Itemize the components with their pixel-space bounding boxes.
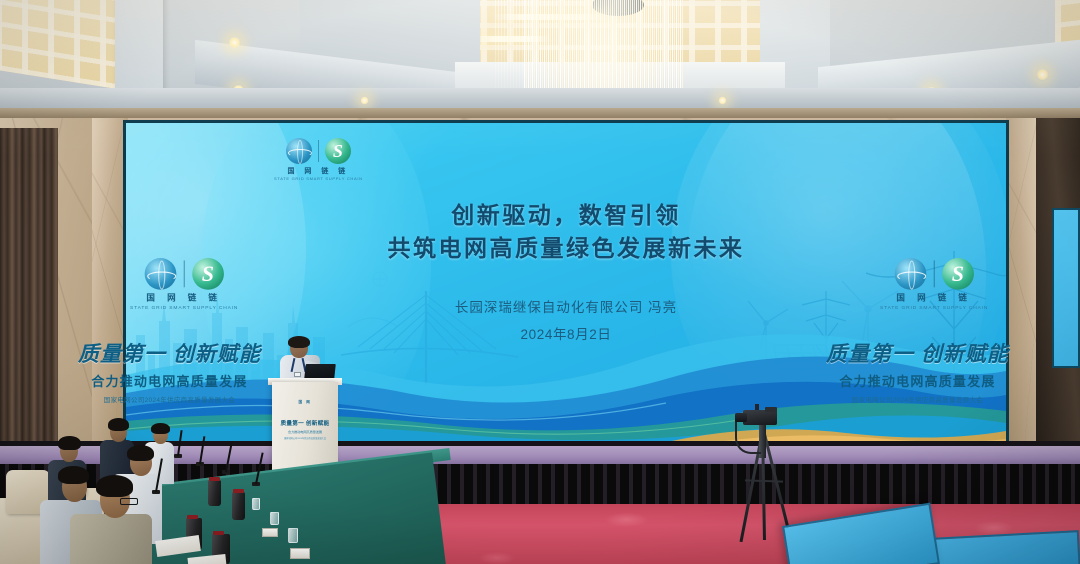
speaker-badge [294,372,301,377]
thermos-cap [213,531,224,535]
downlight-icon [360,96,369,105]
state-grid-globe-icon [894,258,926,290]
logo-cn-text: 国 网 链 链 [287,166,349,176]
person-hair [127,445,154,461]
thermos-cap [187,515,198,519]
logo-divider [934,260,935,287]
podium-front-panel: 国 网 质量第一 创新赋能 合力推动电网高质量发展 国家电网公司2024年供应商… [275,400,335,440]
logo-en-text: STATE GRID SMART SUPPLY CHAIN [274,176,363,181]
wall-top-trim [0,108,1080,118]
water-glass [252,498,260,510]
logo-cn-text: 国 网 链 链 [146,292,221,304]
thermos-flask [232,492,245,520]
downlight-icon [718,96,727,105]
smart-supply-chain-s-icon [325,138,351,164]
thermos-flask [208,480,221,506]
nameplate [290,548,310,559]
screen-top-logo-block: 国 网 链 链 STATE GRID SMART SUPPLY CHAIN [274,138,363,181]
laptop-screen [304,364,336,379]
speaker-hair [288,336,310,348]
person-hair [108,418,129,431]
slogan-sub: 合力推动电网高质量发展 [78,371,261,390]
downlight-icon [1036,68,1049,81]
secondary-display [1052,208,1080,368]
right-pillar [1006,108,1036,448]
ceiling [0,0,1080,112]
slogan-fine: 国家电网公司2024年供应商高质量发展大会 [78,394,261,404]
right-banner-logo-block: 国 网 链 链 STATE GRID SMART SUPPLY CHAIN [880,258,988,310]
podium-fine-text: 国家电网公司2024年供应商高质量发展大会 [275,436,335,440]
smart-supply-chain-s-icon [192,258,224,290]
water-glass [270,512,279,525]
thermos-cap [209,477,220,481]
person-hair [58,436,81,450]
video-camera-icon [743,410,777,425]
marble-vein-texture [1006,108,1036,448]
person-hair [96,475,133,497]
person-hair [151,423,170,434]
state-grid-globe-icon [144,258,176,290]
eyeglasses-icon [120,498,138,505]
podium-logo-text: 国 网 [275,400,335,405]
downlight-icon [228,36,241,49]
camera-mic-icon [755,404,759,410]
slogan-sub: 合力推动电网高质量发展 [826,371,1009,390]
conference-hall-photo: 创新驱动，数智引领 共筑电网高质量绿色发展新未来 长园深瑞继保自动化有限公司 冯… [0,0,1080,564]
logo-pair [144,258,223,290]
camera-lens-icon [735,413,747,422]
logo-pair [286,138,351,164]
water-glass [288,528,298,543]
logo-cn-text: 国 网 链 链 [896,292,971,304]
right-banner-slogan: 质量第一 创新赋能 合力推动电网高质量发展 国家电网公司2024年供应商高质量发… [826,338,1009,404]
camera-cable [735,420,761,454]
left-curtain [0,128,58,444]
nameplate [262,528,278,537]
slogan-main: 质量第一 创新赋能 [826,338,1009,368]
person-hair [58,466,89,484]
logo-pair [894,258,973,290]
screen-title-line2: 共筑电网高质量绿色发展新未来 [126,232,1006,265]
person-torso [70,514,152,564]
left-banner-slogan: 质量第一 创新赋能 合力推动电网高质量发展 国家电网公司2024年供应商高质量发… [78,338,261,404]
thermos-cap [233,489,244,493]
podium-sub-text: 合力推动电网高质量发展 [275,429,335,434]
podium-title-text: 质量第一 创新赋能 [275,419,335,427]
camera-viewfinder [765,407,777,412]
smart-supply-chain-s-icon [942,258,974,290]
left-banner-logo-block: 国 网 链 链 STATE GRID SMART SUPPLY CHAIN [130,258,238,310]
logo-en-text: STATE GRID SMART SUPPLY CHAIN [880,304,988,310]
screen-title-line1: 创新驱动，数智引领 [126,199,1006,232]
screen-title-block: 创新驱动，数智引领 共筑电网高质量绿色发展新未来 [126,199,1006,264]
logo-en-text: STATE GRID SMART SUPPLY CHAIN [130,304,238,310]
logo-divider [318,140,319,162]
screen-presenter-line: 长园深瑞继保自动化有限公司 冯亮 [126,296,1006,316]
slogan-main: 质量第一 创新赋能 [78,338,261,368]
slogan-fine: 国家电网公司2024年供应商高质量发展大会 [826,394,1009,404]
logo-divider [184,260,185,287]
state-grid-globe-icon [286,138,312,164]
